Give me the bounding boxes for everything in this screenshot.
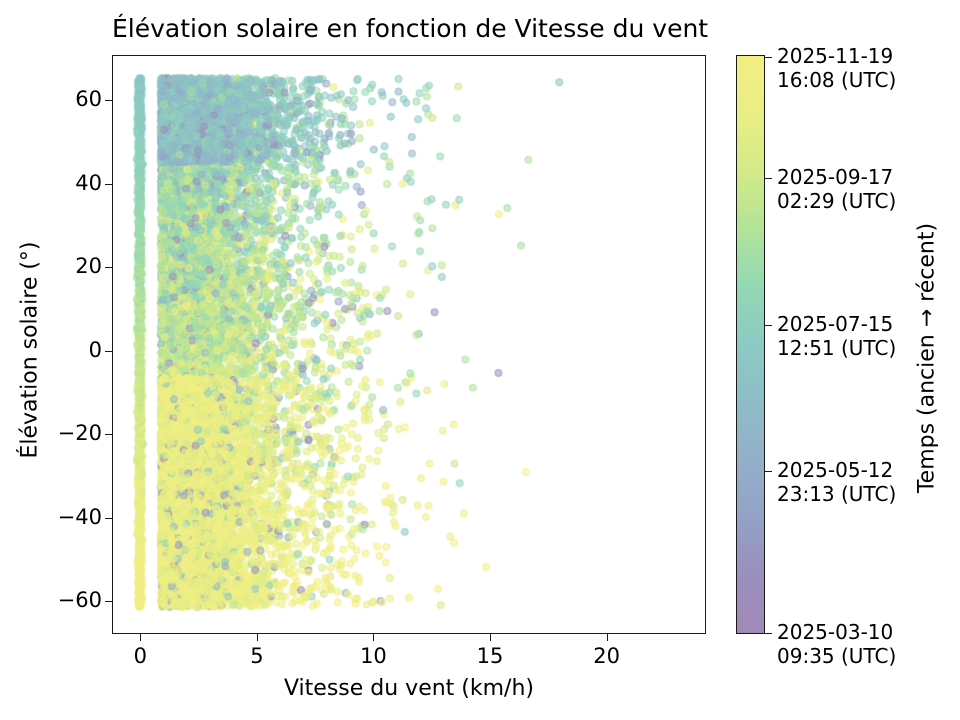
x-tick-mark: [490, 634, 491, 641]
colorbar-tick-time: 12:51 (UTC): [777, 336, 896, 360]
colorbar-tick-date: 2025-09-17: [777, 165, 896, 189]
colorbar-tick-date: 2025-07-15: [777, 312, 896, 336]
scatter-plot-canvas: [113, 56, 704, 632]
colorbar-tick-mark: [765, 633, 772, 634]
y-tick-mark: [105, 267, 112, 268]
colorbar-tick-mark: [765, 471, 772, 472]
y-tick-label: −60: [40, 590, 102, 611]
colorbar-tick-label: 2025-05-1223:13 (UTC): [777, 458, 896, 506]
figure-canvas: Élévation solaire en fonction de Vitesse…: [0, 0, 960, 720]
y-axis-label: Élévation solaire (°): [18, 61, 44, 640]
colorbar-tick-mark: [765, 178, 772, 179]
colorbar-label: Temps (ancien → récent): [915, 69, 941, 648]
y-tick-label: −40: [40, 507, 102, 528]
y-tick-mark: [105, 184, 112, 185]
colorbar-tick-mark: [765, 325, 772, 326]
x-axis-label: Vitesse du vent (km/h): [112, 676, 706, 702]
y-tick-label: 20: [40, 256, 102, 277]
y-tick-label: −20: [40, 423, 102, 444]
colorbar-tick-date: 2025-11-19: [777, 44, 896, 68]
y-tick-mark: [105, 100, 112, 101]
colorbar-tick-time: 16:08 (UTC): [777, 68, 896, 92]
colorbar-tick-date: 2025-03-10: [777, 620, 896, 644]
y-tick-mark: [105, 351, 112, 352]
colorbar-tick-time: 02:29 (UTC): [777, 189, 896, 213]
colorbar-tick-label: 2025-09-1702:29 (UTC): [777, 165, 896, 213]
y-tick-label: 40: [40, 173, 102, 194]
page-title: Élévation solaire en fonction de Vitesse…: [112, 14, 706, 44]
x-tick-mark: [373, 634, 374, 641]
colorbar-tick-date: 2025-05-12: [777, 458, 896, 482]
plot-area[interactable]: [112, 55, 706, 634]
colorbar-tick-time: 23:13 (UTC): [777, 482, 896, 506]
y-tick-mark: [105, 601, 112, 602]
colorbar-tick-mark: [765, 57, 772, 58]
y-tick-mark: [105, 518, 112, 519]
x-tick-label: 0: [100, 646, 180, 667]
x-tick-mark: [607, 634, 608, 641]
x-tick-label: 20: [567, 646, 647, 667]
y-tick-label: 60: [40, 89, 102, 110]
x-tick-label: 10: [333, 646, 413, 667]
colorbar-tick-label: 2025-11-1916:08 (UTC): [777, 44, 896, 92]
x-tick-label: 15: [450, 646, 530, 667]
colorbar-tick-time: 09:35 (UTC): [777, 644, 896, 668]
colorbar-tick-label: 2025-03-1009:35 (UTC): [777, 620, 896, 668]
y-tick-mark: [105, 434, 112, 435]
colorbar: [736, 55, 765, 634]
y-tick-label: 0: [40, 340, 102, 361]
x-tick-mark: [140, 634, 141, 641]
x-tick-label: 5: [217, 646, 297, 667]
colorbar-tick-label: 2025-07-1512:51 (UTC): [777, 312, 896, 360]
x-tick-mark: [257, 634, 258, 641]
